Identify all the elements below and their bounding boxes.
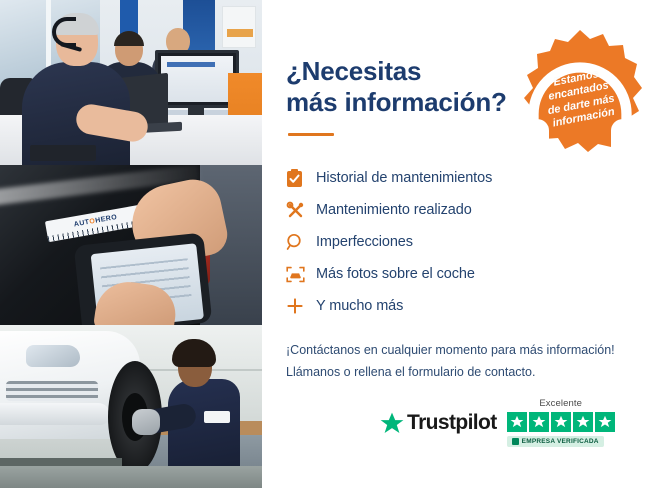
star-2 (529, 412, 549, 432)
feature-item-imperfections: Imperfecciones (286, 226, 628, 258)
monitor-screen-bar (167, 62, 215, 67)
rating-label: Excelente (507, 398, 615, 409)
star-5 (595, 412, 615, 432)
car-headlight (26, 345, 80, 367)
star-3 (551, 412, 571, 432)
feature-label: Mantenimiento realizado (316, 202, 472, 218)
contact-line-1: ¡Contáctanos en cualquier momento para m… (286, 340, 628, 362)
trustpilot-rating: Excelente EMPRESA VERIFICADA (507, 396, 615, 450)
plus-icon (286, 297, 316, 315)
feature-label: Más fotos sobre el coche (316, 266, 475, 282)
mechanic-uniform-badge (204, 411, 230, 423)
trustpilot-logo: Trustpilot (380, 411, 497, 435)
trustpilot-widget[interactable]: Trustpilot Excelente EMPRESA VERIFICADA (380, 396, 615, 450)
page-title-line-1: ¿Necesitas (286, 56, 516, 87)
call-center-agent-photo (0, 0, 262, 165)
trustpilot-wordmark: Trustpilot (407, 411, 497, 435)
feature-label: Historial de mantenimientos (316, 170, 492, 186)
feature-item-much-more: Y mucho más (286, 290, 628, 322)
feature-item-maintenance-done: Mantenimiento realizado (286, 194, 628, 226)
car-grille (6, 381, 98, 401)
car-photo-frame-icon (286, 266, 316, 283)
magnifier-icon (286, 233, 316, 251)
verified-badge-label: EMPRESA VERIFICADA (522, 438, 599, 445)
contact-info-banner: AUTOHERO (0, 0, 650, 488)
star-4 (573, 412, 593, 432)
photo-collage: AUTOHERO (0, 0, 262, 488)
feature-label: Imperfecciones (316, 234, 413, 250)
info-panel: ¿Necesitas más información? Estamos enca… (262, 0, 650, 488)
contact-line-2: Llámanos o rellena el formulario de cont… (286, 362, 628, 384)
trustpilot-star-icon (380, 412, 404, 435)
ruler-brand-part3: HERO (95, 214, 118, 225)
verified-badge: EMPRESA VERIFICADA (507, 436, 604, 447)
page-title: ¿Necesitas más información? (286, 56, 516, 117)
star-rating (507, 412, 615, 432)
car-bumper (0, 403, 110, 425)
mechanic-wheel-photo (0, 325, 262, 488)
monitor-screen (161, 56, 233, 102)
wall-poster (222, 6, 256, 48)
clipboard-check-icon (286, 169, 316, 188)
mechanic-glove (132, 409, 160, 435)
title-divider (288, 133, 334, 136)
page-title-line-2: más información? (286, 87, 516, 118)
desk-tablet (30, 145, 96, 161)
tools-icon (286, 201, 316, 220)
garage-floor (0, 466, 262, 488)
star-1 (507, 412, 527, 432)
feature-item-more-photos: Más fotos sobre el coche (286, 258, 628, 290)
feature-label: Y mucho más (316, 298, 403, 314)
check-icon (512, 438, 519, 445)
feature-list: Historial de mantenimientos Mantenimient… (286, 162, 628, 322)
status-badge: Estamos encantados de darte más informac… (518, 28, 642, 152)
contact-text: ¡Contáctanos en cualquier momento para m… (286, 340, 628, 384)
car-inspection-ruler-photo: AUTOHERO (0, 165, 262, 325)
ruler-brand-part1: AUT (73, 219, 90, 229)
